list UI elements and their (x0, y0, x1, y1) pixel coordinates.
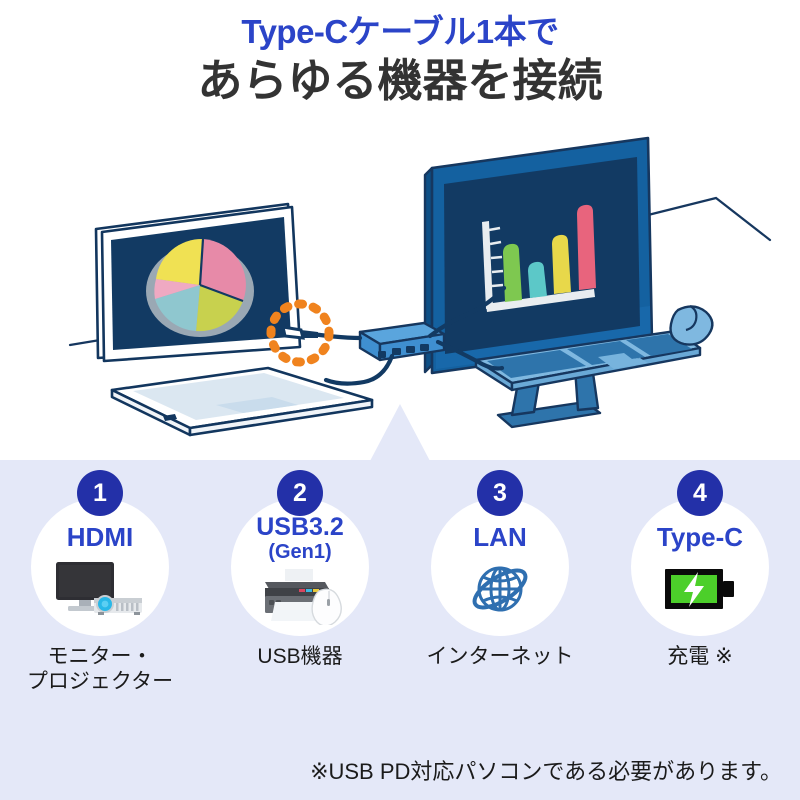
feature-caption: モニター・ プロジェクター (27, 645, 173, 695)
feature-bubble: 4 Type-C (631, 498, 769, 636)
feature-title: LAN (473, 524, 526, 551)
feature-number-badge: 3 (477, 470, 523, 516)
promo-graphic-page: Type-Cケーブル1本で あらゆる機器を接続 (0, 0, 800, 800)
feature-title-main: USB3.2 (256, 513, 344, 541)
feature-title: USB3.2 (Gen1) (256, 515, 344, 564)
headline-line-2: あらゆる機器を接続 (0, 54, 800, 109)
caption-line-1: USB機器 (257, 645, 342, 670)
feature-caption: 充電 ※ (667, 645, 732, 670)
headline-line-1: Type-Cケーブル1本で (0, 14, 800, 51)
battery-charging-icon (664, 558, 736, 620)
feature-number-badge: 1 (77, 470, 123, 516)
caption-line-1: インターネット (427, 645, 574, 670)
caption-line-2: プロジェクター (27, 670, 173, 695)
mouse-illustration (671, 306, 713, 345)
type-c-connector (283, 327, 318, 338)
feature-bubble: 2 USB3.2 (Gen1) (231, 498, 369, 636)
printer-mouse-icon (257, 566, 343, 628)
laptop-illustration (96, 204, 372, 435)
caption-line-1: 充電 ※ (667, 645, 732, 670)
feature-typec[interactable]: 4 Type-C 充電 ※ (600, 468, 800, 730)
feature-bubble: 1 HDMI (31, 498, 169, 636)
feature-title-sub: (Gen1) (256, 541, 344, 564)
headline-block: Type-Cケーブル1本で あらゆる機器を接続 (0, 14, 800, 109)
monitor-projector-icon (54, 558, 146, 620)
feature-caption: インターネット (427, 645, 574, 670)
feature-number-badge: 2 (277, 470, 323, 516)
panel-pointer-arrow (370, 404, 430, 461)
feature-usb[interactable]: 2 USB3.2 (Gen1) (200, 468, 400, 730)
caption-line-1: モニター・ (27, 645, 173, 670)
feature-caption: USB機器 (257, 645, 342, 670)
feature-title: HDMI (67, 524, 133, 551)
features-row: 1 HDMI (0, 468, 800, 730)
globe-icon (469, 558, 531, 620)
feature-hdmi[interactable]: 1 HDMI (0, 468, 200, 730)
feature-number-badge: 4 (677, 470, 723, 516)
feature-lan[interactable]: 3 LAN (400, 468, 600, 730)
feature-title: Type-C (657, 524, 743, 551)
feature-bubble: 3 LAN (431, 498, 569, 636)
footnote-text: ※USB PD対応パソコンである必要があります。 (310, 754, 782, 786)
